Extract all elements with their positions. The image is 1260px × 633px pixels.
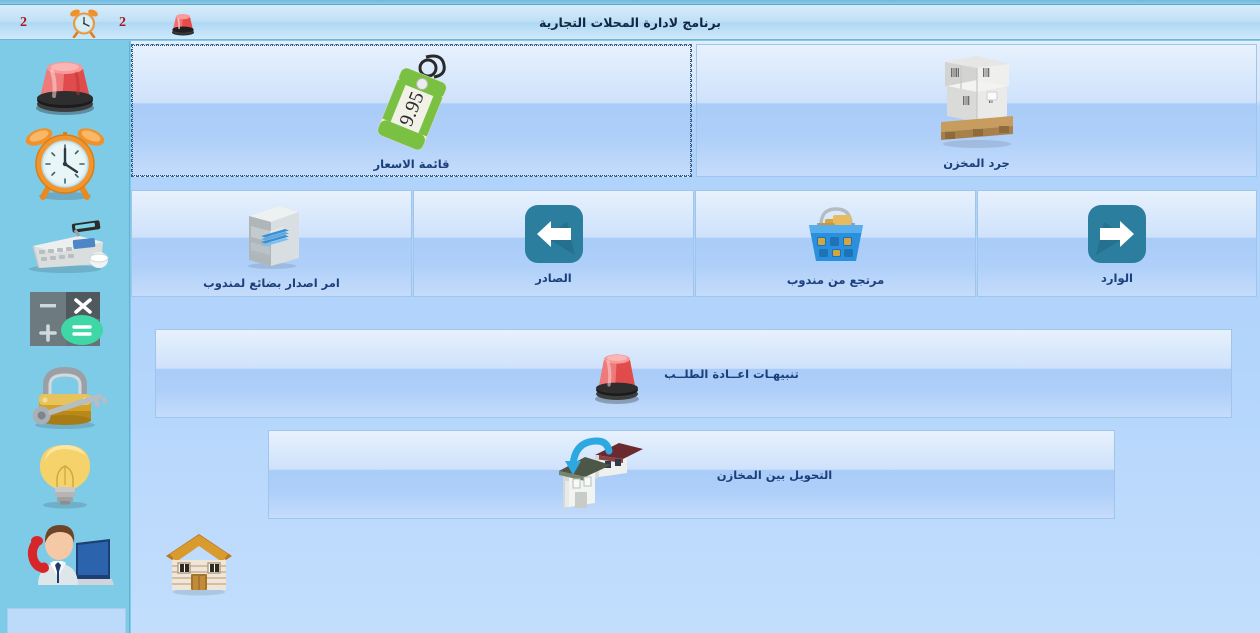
tile-label: التحويل بين المخازن — [717, 468, 832, 482]
cash-register-icon — [17, 208, 113, 274]
sidebar-item-support[interactable] — [11, 515, 119, 591]
arrow-right-icon — [1086, 203, 1148, 265]
home-icon — [160, 530, 238, 596]
sidebar-item-alerts[interactable] — [11, 47, 119, 123]
filing-cabinet-icon — [237, 198, 307, 270]
calculator-icon — [20, 288, 110, 350]
tile-label: قائمة الاسعار — [373, 157, 449, 171]
siren-icon — [160, 6, 206, 39]
tile-label: الوارد — [1101, 271, 1133, 285]
tile-label: الصادر — [535, 271, 571, 285]
shopping-basket-icon — [797, 201, 875, 267]
sidebar-item-reminders[interactable] — [11, 125, 119, 201]
alert-indicator[interactable]: 2 — [107, 5, 206, 40]
sidebar-item-pos[interactable] — [11, 203, 119, 279]
arrow-left-icon — [523, 203, 585, 265]
header-indicators: 2 2 — [0, 5, 206, 40]
tile-return-from-rep[interactable]: مرتجع من مندوب — [695, 190, 976, 297]
alarm-clock-icon — [23, 124, 107, 202]
main-content: 9.95 قائمة الاسعار — [131, 41, 1260, 633]
pallet-boxes-icon — [927, 52, 1027, 150]
tile-price-list[interactable]: 9.95 قائمة الاسعار — [131, 44, 692, 177]
tile-label: تنبيهـات اعــادة الطلــب — [664, 367, 799, 381]
sidebar-item-tips[interactable] — [11, 437, 119, 513]
header-bar: 2 2 برنامج لادا — [0, 5, 1260, 40]
home-button[interactable] — [156, 528, 242, 598]
tile-incoming[interactable]: الوارد — [977, 190, 1257, 297]
sidebar-footer-panel — [7, 608, 126, 633]
tile-outgoing[interactable]: الصادر — [413, 190, 694, 297]
tile-reorder-alerts[interactable]: تنبيهـات اعــادة الطلــب — [155, 329, 1232, 418]
lightbulb-icon — [24, 440, 106, 510]
tile-label: امر اصدار بضائع لمندوب — [203, 276, 340, 290]
application-window: 2 2 برنامج لادا — [0, 0, 1260, 633]
alarm-clock-icon — [61, 6, 107, 39]
reminder-indicator[interactable]: 2 — [8, 5, 107, 40]
tile-warehouse-transfer[interactable]: التحويل بين المخازن — [268, 430, 1115, 519]
siren-icon — [588, 343, 646, 405]
sidebar — [0, 41, 130, 633]
tile-issue-goods-order[interactable]: امر اصدار بضائع لمندوب — [131, 190, 412, 297]
warehouse-transfer-icon — [551, 437, 647, 513]
tile-warehouse-inventory[interactable]: جرد المخزن — [696, 44, 1257, 177]
lock-key-icon — [17, 363, 113, 431]
siren-icon — [26, 54, 104, 116]
alert-count: 2 — [107, 15, 160, 31]
tile-label: مرتجع من مندوب — [787, 273, 884, 287]
tile-label: جرد المخزن — [943, 156, 1010, 170]
reminder-count: 2 — [8, 15, 61, 31]
sidebar-item-calculator[interactable] — [11, 281, 119, 357]
price-tag-icon: 9.95 — [366, 51, 458, 151]
sidebar-item-security[interactable] — [11, 359, 119, 435]
support-agent-icon — [16, 517, 114, 589]
